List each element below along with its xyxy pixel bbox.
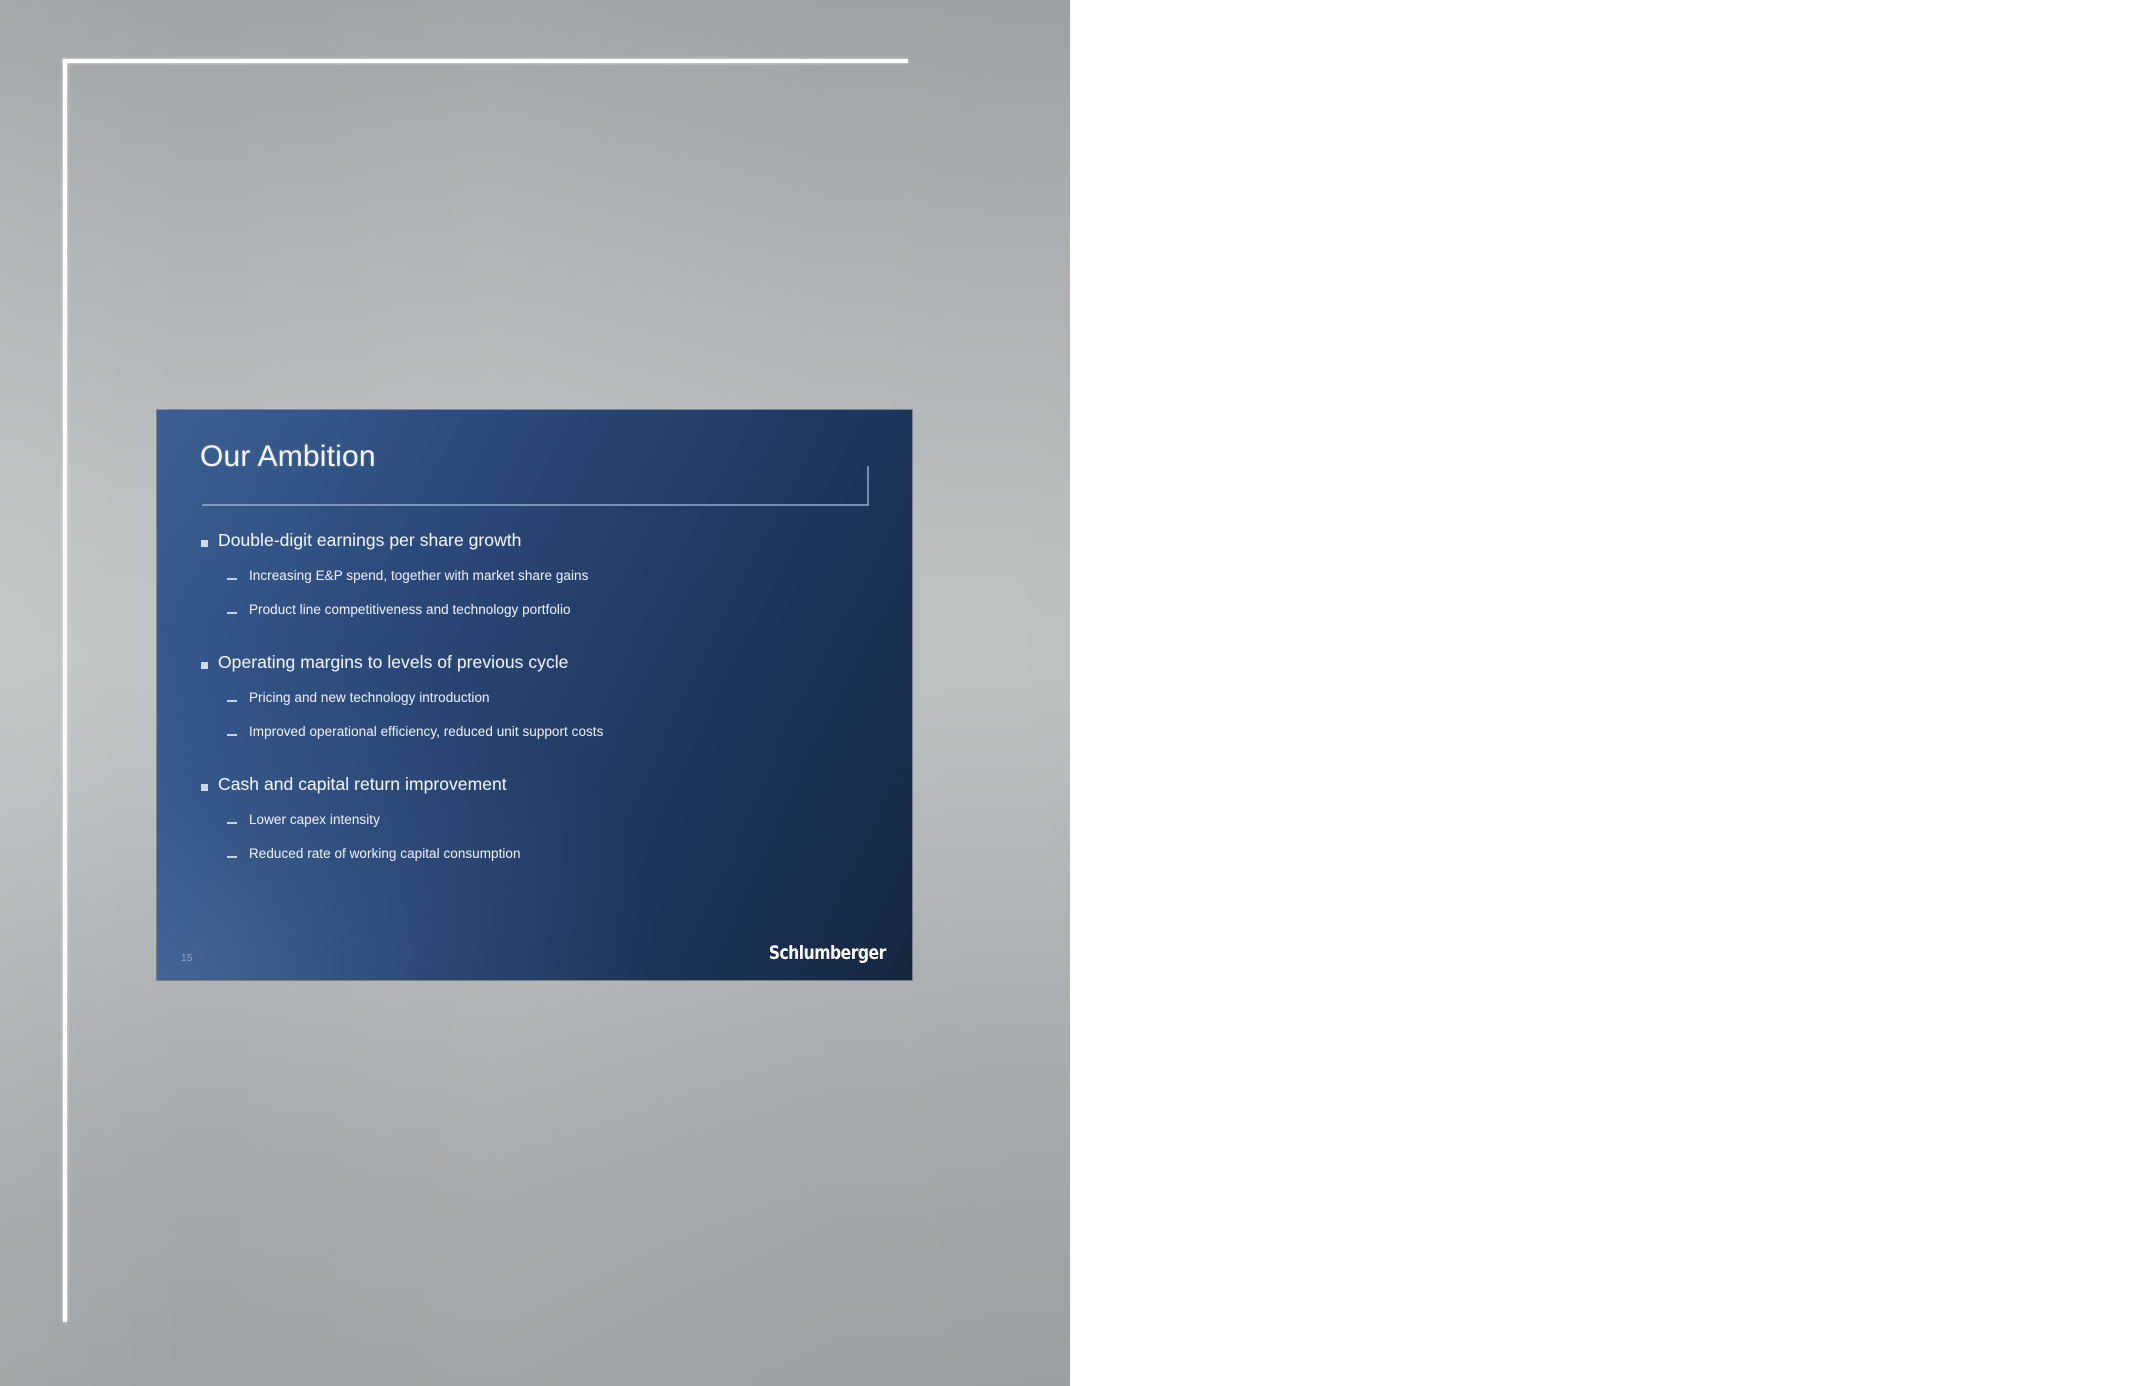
bullet-group: Operating margins to levels of previous … [157,650,912,752]
presentation-slide[interactable]: Our Ambition Double-digit earnings per s… [157,410,912,980]
bullet-item-level1: Double-digit earnings per share growth [157,528,912,562]
page-canvas: Our Ambition Double-digit earnings per s… [0,0,2142,1386]
sub-bullet-text: Improved operational efficiency, reduced… [249,722,603,742]
bullet-item-level2: Increasing E&P spend, together with mark… [157,566,912,596]
slide-page-number: 15 [181,953,193,964]
square-bullet-icon [201,662,218,669]
bullet-text: Operating margins to levels of previous … [218,650,568,675]
dash-bullet-icon [227,856,249,858]
page-frame-top-rule [63,59,908,63]
bullet-text: Double-digit earnings per share growth [218,528,521,553]
schlumberger-logo: Schlumberger [769,942,886,964]
bullet-item-level1: Operating margins to levels of previous … [157,650,912,684]
sub-bullet-text: Increasing E&P spend, together with mark… [249,566,588,586]
sub-bullet-text: Reduced rate of working capital consumpt… [249,844,521,864]
dash-bullet-icon [227,734,249,736]
sub-bullet-text: Lower capex intensity [249,810,380,830]
page-frame-left-rule [63,59,67,1322]
bullet-group-spacer [157,636,912,650]
dash-bullet-icon [227,822,249,824]
square-bullet-icon [201,540,218,547]
dash-bullet-icon [227,700,249,702]
title-underline-rule [202,504,869,506]
slide-title: Our Ambition [200,440,376,473]
slide-bullet-list: Double-digit earnings per share growth I… [157,528,912,880]
bullet-group: Double-digit earnings per share growth I… [157,528,912,630]
bullet-item-level2: Reduced rate of working capital consumpt… [157,844,912,874]
square-bullet-icon [201,784,218,791]
bullet-group: Cash and capital return improvement Lowe… [157,772,912,874]
bullet-item-level2: Lower capex intensity [157,810,912,840]
sub-bullet-text: Product line competitiveness and technol… [249,600,571,620]
bullet-group-spacer [157,758,912,772]
bullet-item-level2: Improved operational efficiency, reduced… [157,722,912,752]
bullet-item-level1: Cash and capital return improvement [157,772,912,806]
title-rule-end-tick [867,466,869,506]
bullet-item-level2: Product line competitiveness and technol… [157,600,912,630]
bullet-item-level2: Pricing and new technology introduction [157,688,912,718]
sub-bullet-text: Pricing and new technology introduction [249,688,490,708]
dash-bullet-icon [227,578,249,580]
dash-bullet-icon [227,612,249,614]
bullet-text: Cash and capital return improvement [218,772,507,797]
